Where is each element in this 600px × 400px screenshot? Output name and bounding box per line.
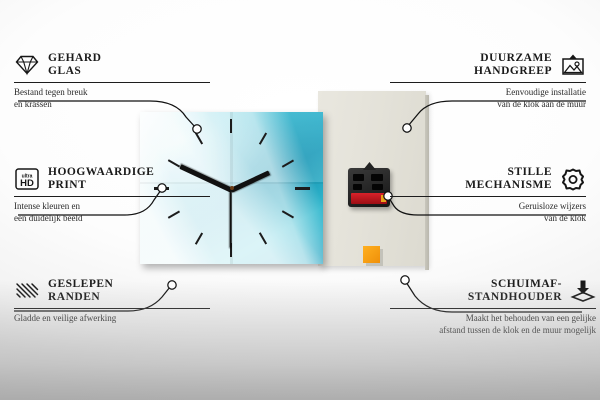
- mechanism-slot-a: [353, 174, 364, 181]
- mechanism-slot-c: [353, 184, 362, 190]
- feature-title-line1: STILLE: [507, 166, 552, 178]
- spacer-standoff-icon: [570, 279, 596, 303]
- feature-callout-geslepen-randen: GESLEPEN RANDEN Gladde en veilige afwerk…: [14, 278, 210, 325]
- feature-title-line2: PRINT: [48, 179, 86, 191]
- svg-text:HD: HD: [20, 178, 34, 189]
- mechanism-slot-d: [372, 184, 383, 190]
- clock-center-pin: [230, 186, 234, 190]
- divider: [14, 196, 210, 197]
- feature-callout-stille-mechanisme: STILLE MECHANISME Geruisloze wijzers van…: [390, 166, 586, 224]
- feature-title-line1: GEHARD: [48, 52, 101, 64]
- clock-second-hand: [230, 189, 232, 247]
- feature-callout-schuimafstandhouder: SCHUIMAF- STANDHOUDER Maakt het behouden…: [390, 278, 596, 336]
- feature-title-line1: DUURZAME: [480, 52, 552, 64]
- divider: [390, 308, 596, 309]
- feature-desc-line2: van de klok aan de muur: [497, 99, 586, 109]
- foam-spacer: [363, 246, 380, 263]
- clock-tick-3: [295, 187, 310, 190]
- gear-icon: [560, 167, 586, 191]
- divider: [390, 196, 586, 197]
- feature-callout-hoogwaardige-print: ultra HD HOOGWAARDIGE PRINT Intense kleu…: [14, 166, 210, 224]
- mechanism-slot-b: [371, 174, 383, 181]
- feature-desc-line1: Eenvoudige installatie: [506, 87, 586, 97]
- diamond-icon: [14, 53, 40, 77]
- feature-desc-line1: Gladde en veilige afwerking: [14, 313, 116, 323]
- feature-title-line1: GESLEPEN: [48, 278, 113, 290]
- battery: [351, 193, 387, 204]
- clock-tick-12: [230, 119, 232, 133]
- divider: [14, 82, 210, 83]
- feature-desc-line2: en krassen: [14, 99, 52, 109]
- feature-title-line2: HANDGREEP: [474, 65, 552, 77]
- divider: [14, 308, 210, 309]
- feature-title-line2: STANDHOUDER: [468, 291, 562, 303]
- feature-title-line2: MECHANISME: [465, 179, 552, 191]
- feature-desc-line1: Maakt het behouden van een gelijke: [466, 313, 596, 323]
- feature-title-line1: SCHUIMAF-: [491, 278, 562, 290]
- feature-desc-line1: Intense kleuren en: [14, 201, 80, 211]
- feature-desc-line2: een duidelijk beeld: [14, 213, 82, 223]
- feature-callout-duurzame-handgreep: DUURZAME HANDGREEP Eenvoudige installati…: [390, 52, 586, 110]
- divider: [390, 82, 586, 83]
- beveled-edges-icon: [14, 279, 40, 303]
- feature-desc-line2: afstand tussen de klok en de muur mogeli…: [439, 325, 596, 335]
- clock-mechanism: [348, 168, 390, 207]
- ultra-hd-icon: ultra HD: [14, 167, 40, 191]
- feature-desc-line1: Bestand tegen breuk: [14, 87, 87, 97]
- feature-desc-line1: Geruisloze wijzers: [519, 201, 586, 211]
- product-infographic: GEHARD GLAS Bestand tegen breuk en krass…: [0, 0, 600, 400]
- picture-frame-icon: [560, 53, 586, 77]
- feature-title-line1: HOOGWAARDIGE: [48, 166, 154, 178]
- feature-title-line2: RANDEN: [48, 291, 100, 303]
- feature-title-line2: GLAS: [48, 65, 81, 77]
- feature-callout-gehard-glas: GEHARD GLAS Bestand tegen breuk en krass…: [14, 52, 210, 110]
- feature-desc-line2: van de klok: [544, 213, 586, 223]
